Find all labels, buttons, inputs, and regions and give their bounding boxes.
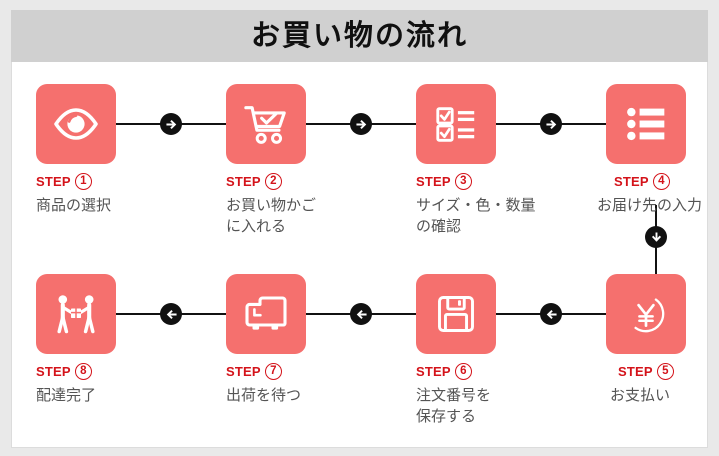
step-5-description: お支払い [610, 385, 708, 406]
step-7-description: 出荷を待つ [226, 385, 376, 406]
step-7-step-word: STEP [226, 365, 261, 378]
step-3-label: STEP 3 [416, 173, 566, 190]
step-5-step-word: STEP [618, 365, 653, 378]
step-3[interactable]: STEP 3 サイズ・色・数量 の確認 [416, 84, 566, 238]
step-8-label: STEP 8 [36, 363, 186, 380]
step-7-label: STEP 7 [226, 363, 376, 380]
step-7-tile[interactable] [226, 274, 306, 354]
step-4-tile[interactable] [606, 84, 686, 164]
step-4[interactable]: STEP 4 お届け先の入力 [606, 84, 708, 216]
step-8-tile[interactable] [36, 274, 116, 354]
step-3-number: 3 [455, 173, 472, 190]
step-1-label: STEP 1 [36, 173, 186, 190]
flow-panel: STEP 1 商品の選択 STEP 2 お買い物かご に入れる [11, 62, 708, 448]
connector-3-to-4-arrow-right-icon [540, 113, 562, 135]
step-3-step-word: STEP [416, 175, 451, 188]
delivery-truck-icon [242, 290, 290, 338]
step-2-description: お買い物かご に入れる [226, 195, 376, 238]
checklist-icon [433, 101, 479, 147]
shopping-flow-diagram: お買い物の流れ [0, 0, 719, 456]
step-4-step-word: STEP [614, 175, 649, 188]
step-8-description: 配達完了 [36, 385, 186, 406]
step-4-description: お届け先の入力 [597, 195, 708, 216]
step-3-description: サイズ・色・数量 の確認 [416, 195, 566, 238]
shopping-cart-icon [243, 101, 289, 147]
step-2-tile[interactable] [226, 84, 306, 164]
connector-6-to-7-arrow-left-icon [350, 303, 372, 325]
connector-5-to-6-arrow-left-icon [540, 303, 562, 325]
step-8[interactable]: STEP 8 配達完了 [36, 274, 186, 406]
step-5[interactable]: STEP 5 お支払い [606, 274, 708, 406]
bullet-list-icon [624, 102, 668, 146]
step-6-tile[interactable] [416, 274, 496, 354]
eye-icon [52, 100, 100, 148]
page-header: お買い物の流れ [11, 10, 708, 62]
page-title: お買い物の流れ [251, 22, 468, 51]
step-7-number: 7 [265, 363, 282, 380]
step-6-description: 注文番号を 保存する [416, 385, 566, 428]
step-2-label: STEP 2 [226, 173, 376, 190]
connector-7-to-8-arrow-left-icon [160, 303, 182, 325]
step-2-number: 2 [265, 173, 282, 190]
floppy-save-icon [434, 292, 478, 336]
step-1-tile[interactable] [36, 84, 116, 164]
step-6-label: STEP 6 [416, 363, 566, 380]
yen-circle-icon [622, 290, 670, 338]
step-2[interactable]: STEP 2 お買い物かご に入れる [226, 84, 376, 238]
step-1-number: 1 [75, 173, 92, 190]
connector-1-to-2-arrow-right-icon [160, 113, 182, 135]
step-8-number: 8 [75, 363, 92, 380]
step-5-tile[interactable] [606, 274, 686, 354]
connector-2-to-3-arrow-right-icon [350, 113, 372, 135]
step-1-description: 商品の選択 [36, 195, 186, 216]
connector-4-to-5-arrow-down-icon [645, 226, 667, 248]
handover-package-icon [52, 290, 100, 338]
step-6-step-word: STEP [416, 365, 451, 378]
step-4-label: STEP 4 [614, 173, 708, 190]
step-7[interactable]: STEP 7 出荷を待つ [226, 274, 376, 406]
step-5-number: 5 [657, 363, 674, 380]
step-1[interactable]: STEP 1 商品の選択 [36, 84, 186, 216]
step-8-step-word: STEP [36, 365, 71, 378]
step-3-tile[interactable] [416, 84, 496, 164]
step-5-label: STEP 5 [618, 363, 708, 380]
step-2-step-word: STEP [226, 175, 261, 188]
step-4-number: 4 [653, 173, 670, 190]
step-1-step-word: STEP [36, 175, 71, 188]
step-6-number: 6 [455, 363, 472, 380]
step-6[interactable]: STEP 6 注文番号を 保存する [416, 274, 566, 428]
